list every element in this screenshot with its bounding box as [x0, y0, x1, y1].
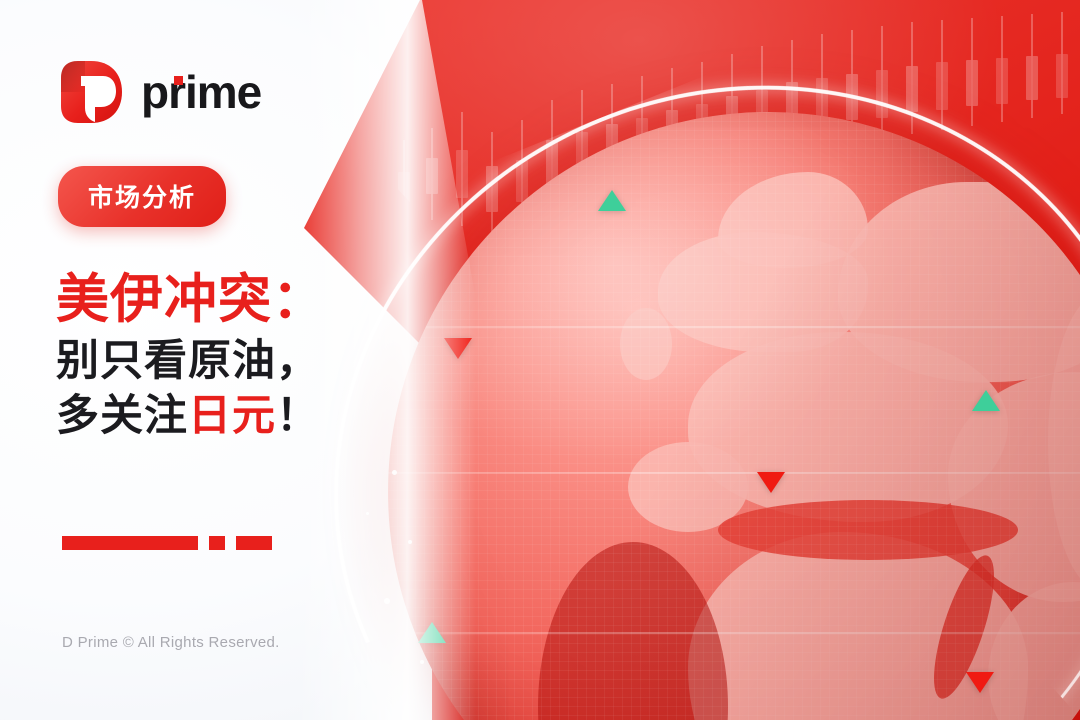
- divider-bar-dot: [209, 536, 225, 550]
- marker-down-southeast: [966, 672, 994, 693]
- candlestick-body: [936, 62, 948, 110]
- marker-down-west: [444, 338, 472, 359]
- headline-line-3-accent: 日元: [188, 392, 276, 440]
- candlestick-body: [906, 66, 918, 112]
- candlestick-body: [1056, 54, 1068, 98]
- marker-down-center: [757, 472, 785, 493]
- headline-line-1: 美伊冲突：: [56, 272, 406, 328]
- marker-up-southwest: [418, 622, 446, 643]
- decorative-divider: [62, 536, 272, 550]
- headline-block: 美伊冲突： 别只看原油， 多关注日元！: [56, 272, 406, 444]
- category-badge[interactable]: 市场分析: [58, 166, 226, 227]
- poster-canvas: prime 市场分析 美伊冲突： 别只看原油， 多关注日元！ D Prime ©…: [0, 0, 1080, 720]
- marker-up-east: [972, 390, 1000, 411]
- wordmark-i-dot: [174, 76, 183, 85]
- marker-up-north: [598, 190, 626, 211]
- divider-bar-long: [62, 536, 198, 550]
- headline-line-2: 别只看原油，: [56, 334, 406, 389]
- headline-line-3: 多关注日元！: [56, 389, 406, 444]
- content-column: prime 市场分析 美伊冲突： 别只看原油， 多关注日元！ D Prime ©…: [0, 0, 420, 720]
- headline-line-3-prefix: 多关注: [56, 392, 188, 440]
- brand-wordmark-text: prime: [141, 66, 261, 118]
- candlestick-body: [966, 60, 978, 106]
- divider-bar-short: [236, 536, 272, 550]
- brand-logo[interactable]: prime: [55, 56, 261, 128]
- candlestick-body: [1026, 56, 1038, 100]
- sparkle-dot: [420, 660, 424, 664]
- headline-line-3-suffix: ！: [276, 392, 320, 440]
- copyright-text: D Prime © All Rights Reserved.: [62, 634, 280, 651]
- d-prime-logo-icon: [55, 56, 127, 128]
- candlestick-body: [996, 58, 1008, 104]
- brand-wordmark: prime: [141, 69, 261, 115]
